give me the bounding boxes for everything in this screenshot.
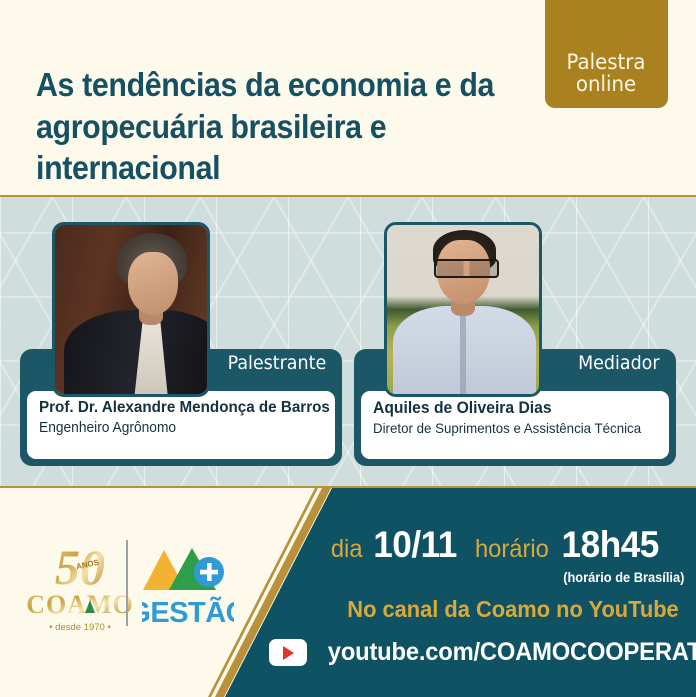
event-poster: As tendências da economia e da agropecuá… [0,0,696,697]
speaker-job-title: Engenheiro Agrônomo [39,419,311,437]
coamo-logo: 50 ANOS COAMO • desde 1970 • [24,534,136,638]
date-label: dia [331,535,363,564]
date-value: 10/11 [374,524,458,566]
speaker-role-label: Mediador [579,352,660,374]
timezone-note: (horário de Brasília) [563,570,684,585]
svg-text:GESTÃO: GESTÃO [142,595,234,629]
speaker-name: Aquiles de Oliveira Dias [373,399,645,418]
gestao-logo-icon: GESTÃO [142,542,234,630]
page-title: As tendências da economia e da agropecuá… [36,64,496,189]
coamo-logo-icon: 50 ANOS COAMO • desde 1970 • [24,534,136,638]
header-section: As tendências da economia e da agropecuá… [0,0,696,197]
speaker-name: Prof. Dr. Alexandre Mendonça de Barros [39,399,311,417]
youtube-row[interactable]: youtube.com/COAMOCOOPERATIVA [322,638,696,667]
time-value: 18h45 [562,524,659,566]
gestao-logo: GESTÃO [142,542,234,630]
portrait-image [387,225,539,394]
badge-label: Palestra online [567,51,646,96]
youtube-icon[interactable] [269,639,307,666]
time-label: horário [475,535,549,564]
speakers-gold-divider [0,486,696,488]
svg-text:COAMO: COAMO [26,590,134,619]
speaker-card-mediador: Mediador Aquiles de Oliveira Dias Direto… [354,222,676,466]
svg-text:• desde 1970 •: • desde 1970 • [49,622,111,633]
palestra-online-badge: Palestra online [545,0,668,108]
portrait-image [55,225,207,394]
speaker-role-label: Palestrante [227,352,326,374]
youtube-url[interactable]: youtube.com/COAMOCOOPERATIVA [328,638,696,667]
speaker-photo [384,222,542,397]
speaker-card-palestrante: Palestrante Prof. Dr. Alexandre Mendonça… [20,222,342,466]
speaker-job-title: Diretor de Suprimentos e Assistência Téc… [373,420,645,438]
channel-line: No canal da Coamo no YouTube [339,596,687,623]
speaker-info-box: Aquiles de Oliveira Dias Diretor de Supr… [361,391,669,459]
logo-divider [126,540,128,626]
speaker-info-box: Prof. Dr. Alexandre Mendonça de Barros E… [27,391,335,459]
event-datetime-row: dia 10/11 horário 18h45 [330,524,690,576]
speaker-photo [52,222,210,397]
